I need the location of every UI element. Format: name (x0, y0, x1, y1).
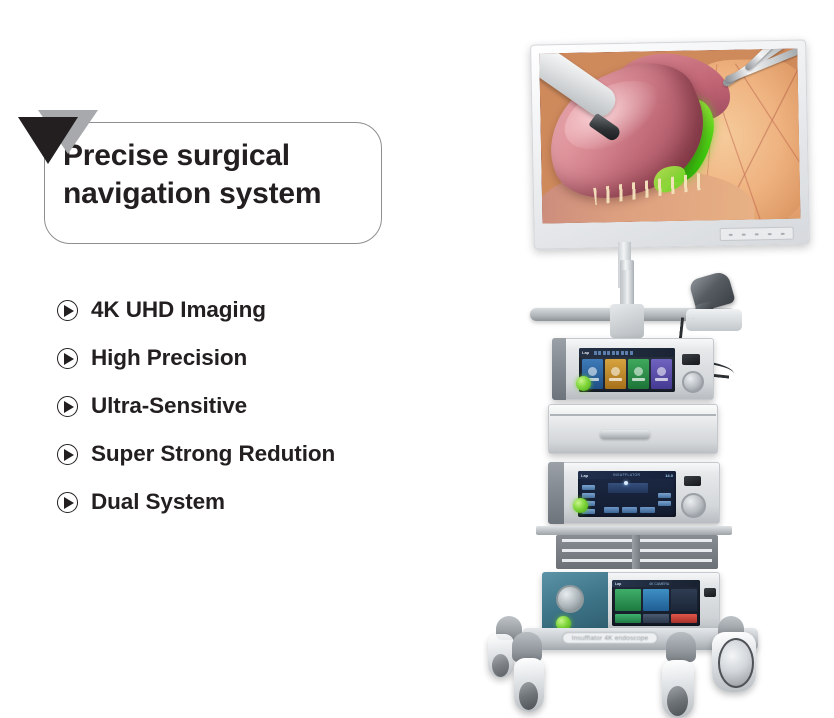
screen-brand-label: Lap (581, 473, 588, 478)
status-chip (598, 351, 601, 355)
mode-tile[interactable] (651, 359, 672, 389)
mode-tile[interactable] (605, 359, 626, 389)
list-item: Ultra-Sensitive (57, 382, 397, 430)
screen-side-button[interactable] (658, 493, 671, 498)
triangle-front-icon (18, 117, 78, 164)
screen-status-bar: Lap 4K CAMERA (612, 580, 700, 587)
screen-status-bar: Lap (579, 348, 675, 357)
basket-divider (632, 535, 640, 569)
device-lcd-screen[interactable]: Lap INSUFFLATOR 14.0 (578, 471, 676, 517)
mode-label (632, 378, 645, 381)
mode-icon (634, 367, 643, 376)
power-indicator-icon[interactable] (576, 376, 591, 391)
screen-side-button[interactable] (658, 501, 671, 506)
mode-icon (588, 367, 597, 376)
stop-button[interactable] (671, 614, 697, 623)
arrow-circle-icon (57, 300, 78, 321)
screen-mode-tiles[interactable] (582, 359, 672, 389)
screen-action-button[interactable] (622, 507, 637, 513)
status-chip (621, 351, 624, 355)
caster-wheel (514, 658, 544, 712)
status-chip (594, 351, 597, 355)
device-port-window (682, 354, 700, 365)
caster-wheel (662, 660, 694, 718)
drawer-chassis (548, 404, 718, 454)
caster-tread (718, 638, 754, 688)
caster-wheel (488, 634, 514, 678)
device-dial[interactable] (556, 585, 584, 613)
mode-icon (657, 367, 666, 376)
mode-label (655, 378, 668, 381)
mode-tile[interactable] (615, 589, 641, 611)
light-source-insufflator[interactable]: Lap INSUFFLATOR 14.0 (548, 462, 720, 524)
poster-canvas: Precise surgical navigation system 4K UH… (0, 0, 834, 718)
monitor-control-buttons[interactable] (720, 227, 794, 241)
screen-action-button[interactable] (604, 507, 619, 513)
screen-title-label: 4K CAMERA (649, 582, 669, 586)
screen-status-bar: Lap INSUFFLATOR 14.0 (578, 471, 676, 479)
monitor-button[interactable] (755, 233, 759, 235)
status-chip (630, 351, 633, 355)
camera-control-unit[interactable]: Lap (552, 338, 714, 400)
feature-label: 4K UHD Imaging (91, 297, 266, 323)
mode-label (609, 378, 622, 381)
arrow-circle-icon (57, 348, 78, 369)
list-item: 4K UHD Imaging (57, 286, 397, 334)
mode-tile[interactable] (628, 359, 649, 389)
drawer-handle[interactable] (600, 430, 650, 439)
screen-mode-tiles[interactable] (615, 589, 697, 611)
gauge-indicator-dot (624, 481, 628, 485)
feature-label: Ultra-Sensitive (91, 393, 247, 419)
status-chip (607, 351, 610, 355)
feature-label: Dual System (91, 489, 225, 515)
device-port-window (684, 476, 701, 486)
arrow-circle-icon (57, 444, 78, 465)
feature-list: 4K UHD Imaging High Precision Ultra-Sens… (57, 286, 397, 526)
crossbar-clamp (610, 304, 644, 338)
mode-tile[interactable] (671, 589, 697, 611)
callout-marker (14, 110, 106, 164)
start-button[interactable] (615, 614, 641, 623)
feature-label: High Precision (91, 345, 247, 371)
monitor-power-button[interactable] (780, 232, 784, 234)
screen-side-button[interactable] (582, 493, 595, 498)
list-item: High Precision (57, 334, 397, 382)
accessory-basket (556, 535, 718, 569)
page-title: Precise surgical navigation system (63, 137, 373, 213)
screen-brand-label: Lap (582, 350, 589, 355)
status-chip (625, 351, 628, 355)
list-item: Dual System (57, 478, 397, 526)
gas-outlet-knob[interactable] (681, 493, 706, 518)
screen-title-label: INSUFFLATOR (613, 473, 640, 477)
device-lcd-screen[interactable]: Lap 4K CAMERA (612, 580, 700, 626)
power-indicator-icon[interactable] (573, 498, 588, 513)
surgical-display-monitor (530, 39, 810, 249)
screen-button-row[interactable] (615, 614, 697, 623)
caster-tread (492, 654, 509, 677)
monitor-button[interactable] (742, 233, 746, 235)
product-brand-label: Insufflator 4K endoscope (562, 632, 658, 644)
device-touchscreen[interactable]: Lap (579, 348, 675, 392)
monitor-button[interactable] (729, 233, 733, 235)
cart-shelf (536, 526, 732, 535)
caster-leg (666, 632, 696, 662)
feature-label: Super Strong Redution (91, 441, 335, 467)
menu-button[interactable] (643, 614, 669, 623)
mode-icon (611, 367, 620, 376)
status-chip (616, 351, 619, 355)
status-chip (612, 351, 615, 355)
screen-side-button[interactable] (582, 485, 595, 490)
screen-value-label: 14.0 (665, 473, 673, 478)
caster-wheel (712, 632, 756, 692)
drawer-seam (550, 414, 716, 416)
list-item: Super Strong Redution (57, 430, 397, 478)
monitor-button[interactable] (767, 233, 771, 235)
arrow-circle-icon (57, 396, 78, 417)
storage-drawer[interactable] (548, 404, 718, 454)
endoscopy-tower-image: Lap (470, 20, 834, 718)
status-chip (603, 351, 606, 355)
device-connector-knob[interactable] (682, 371, 704, 393)
screen-action-button[interactable] (640, 507, 655, 513)
arrow-circle-icon (57, 492, 78, 513)
screen-brand-label: Lap (615, 582, 621, 586)
pressure-gauge-bar (608, 483, 648, 493)
device-port-window (704, 588, 716, 597)
caster-tread (667, 686, 688, 716)
caster-tread (519, 682, 538, 710)
monitor-screen (539, 49, 800, 224)
generator-unit[interactable]: Lap 4K CAMERA (542, 572, 720, 634)
device-side-panel (552, 338, 566, 400)
mode-tile[interactable] (643, 589, 669, 611)
device-side-panel (548, 462, 564, 524)
